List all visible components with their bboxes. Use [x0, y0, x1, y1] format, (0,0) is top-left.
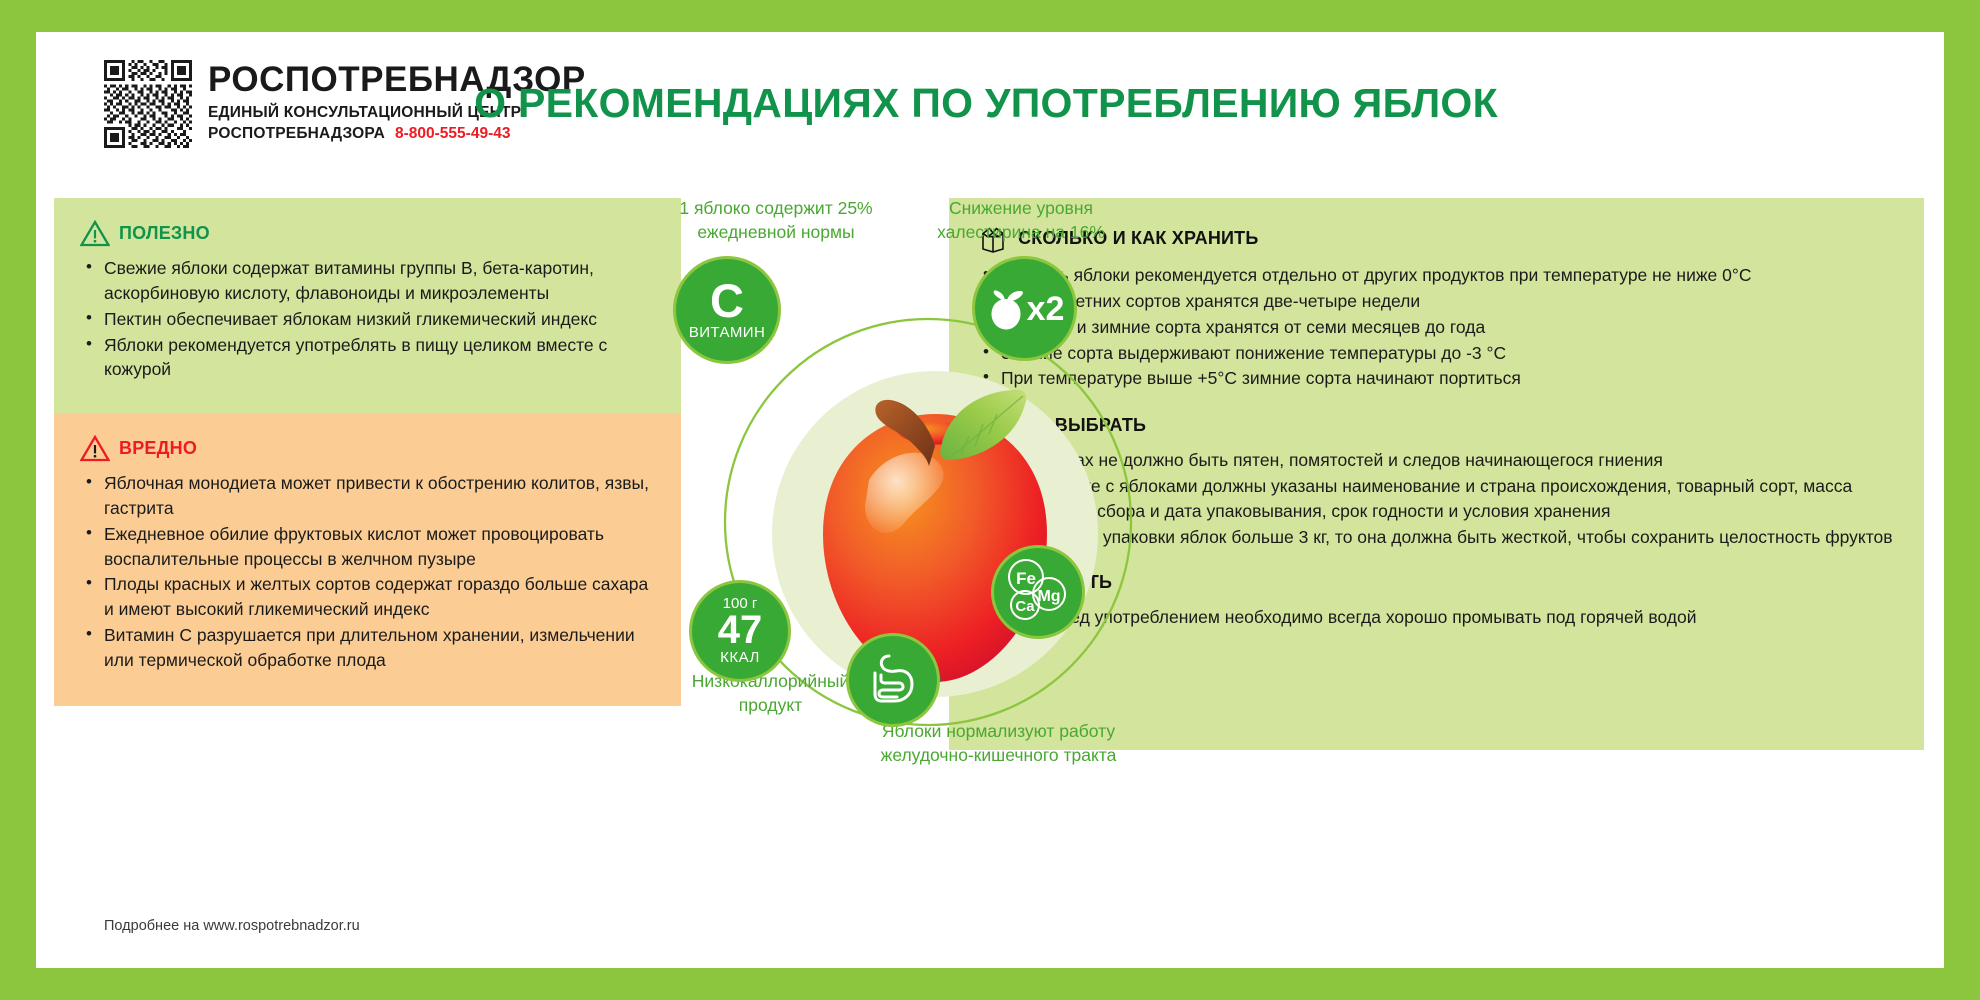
center-diagram: 1 яблоко содержит 25% ежедневной нормы С… — [681, 182, 951, 972]
brand-subtitle-line2-row: РОСПОТРЕБНАДЗОРА 8-800-555-49-43 — [208, 125, 586, 143]
section-header-useful: ПОЛЕЗНО — [80, 220, 655, 247]
list-item: Пектин обеспечивает яблокам низкий глике… — [80, 307, 655, 332]
infographic-poster: РОСПОТРЕБНАДЗОР ЕДИНЫЙ КОНСУЛЬТАЦИОННЫЙ … — [0, 0, 1980, 1000]
apple-multiplier-label: х2 — [1027, 292, 1065, 326]
vitamin-letter: С — [710, 279, 744, 322]
warning-triangle-icon — [80, 220, 110, 247]
list-item: Яблоки рекомендуется употреблять в пищу … — [80, 333, 655, 383]
badge-apple-x2: х2 — [972, 256, 1077, 361]
caption-cholesterol: Снижение уровня халестирина на 16% — [906, 196, 1136, 244]
badge-minerals: Fe Mg Ca — [991, 545, 1085, 639]
page-title: О РЕКОМЕНДАЦИЯХ ПО УПОТРЕБЛЕНИЮ ЯБЛОК — [456, 80, 1516, 127]
header: РОСПОТРЕБНАДЗОР ЕДИНЫЙ КОНСУЛЬТАЦИОННЫЙ … — [36, 32, 1944, 172]
list-item: Витамин С разрушается при длительном хра… — [80, 623, 655, 673]
calorie-value: 47 — [718, 612, 763, 648]
warning-triangle-icon — [80, 435, 110, 462]
section-header-harmful: ВРЕДНО — [80, 435, 655, 462]
panel-harmful: ВРЕДНО Яблочная монодиета может привести… — [54, 413, 681, 706]
poster-sheet: РОСПОТРЕБНАДЗОР ЕДИНЫЙ КОНСУЛЬТАЦИОННЫЙ … — [36, 32, 1944, 968]
svg-text:Mg: Mg — [1037, 588, 1060, 605]
harmful-bullet-list: Яблочная монодиета может привести к обос… — [80, 471, 655, 673]
list-item: Ежедневное обилие фруктовых кислот может… — [80, 522, 655, 572]
section-title-useful: ПОЛЕЗНО — [119, 223, 210, 244]
caption-vitamin-c: 1 яблоко содержит 25% ежедневной нормы — [661, 196, 891, 244]
qr-code-icon — [104, 60, 192, 148]
vitamin-label: ВИТАМИН — [689, 324, 765, 341]
footer-note: Подробнее на www.rospotrebnadzor.ru — [104, 918, 360, 934]
badge-calories: 100 г 47 ККАЛ — [689, 580, 791, 682]
svg-text:Ca: Ca — [1015, 598, 1035, 615]
badge-vitamin-c: С ВИТАМИН — [673, 256, 781, 364]
brand-subtitle-line2: РОСПОТРЕБНАДЗОРА — [208, 125, 385, 143]
section-title-harmful: ВРЕДНО — [119, 438, 197, 459]
minerals-icon: Fe Mg Ca — [997, 551, 1079, 633]
hotline-phone-number: 8-800-555-49-43 — [395, 125, 510, 143]
svg-text:Fe: Fe — [1016, 569, 1036, 588]
useful-bullet-list: Свежие яблоки содержат витамины группы В… — [80, 256, 655, 382]
list-item: Плоды красных и желтых сортов содержат г… — [80, 572, 655, 622]
list-item: Свежие яблоки содержат витамины группы В… — [80, 256, 655, 306]
apple-icon — [985, 286, 1027, 332]
stomach-intestine-icon — [863, 649, 923, 711]
badge-digestive-tract — [846, 633, 940, 727]
list-item: Яблочная монодиета может привести к обос… — [80, 471, 655, 521]
panel-useful: ПОЛЕЗНО Свежие яблоки содержат витамины … — [54, 198, 681, 413]
calorie-unit: ККАЛ — [720, 649, 760, 666]
